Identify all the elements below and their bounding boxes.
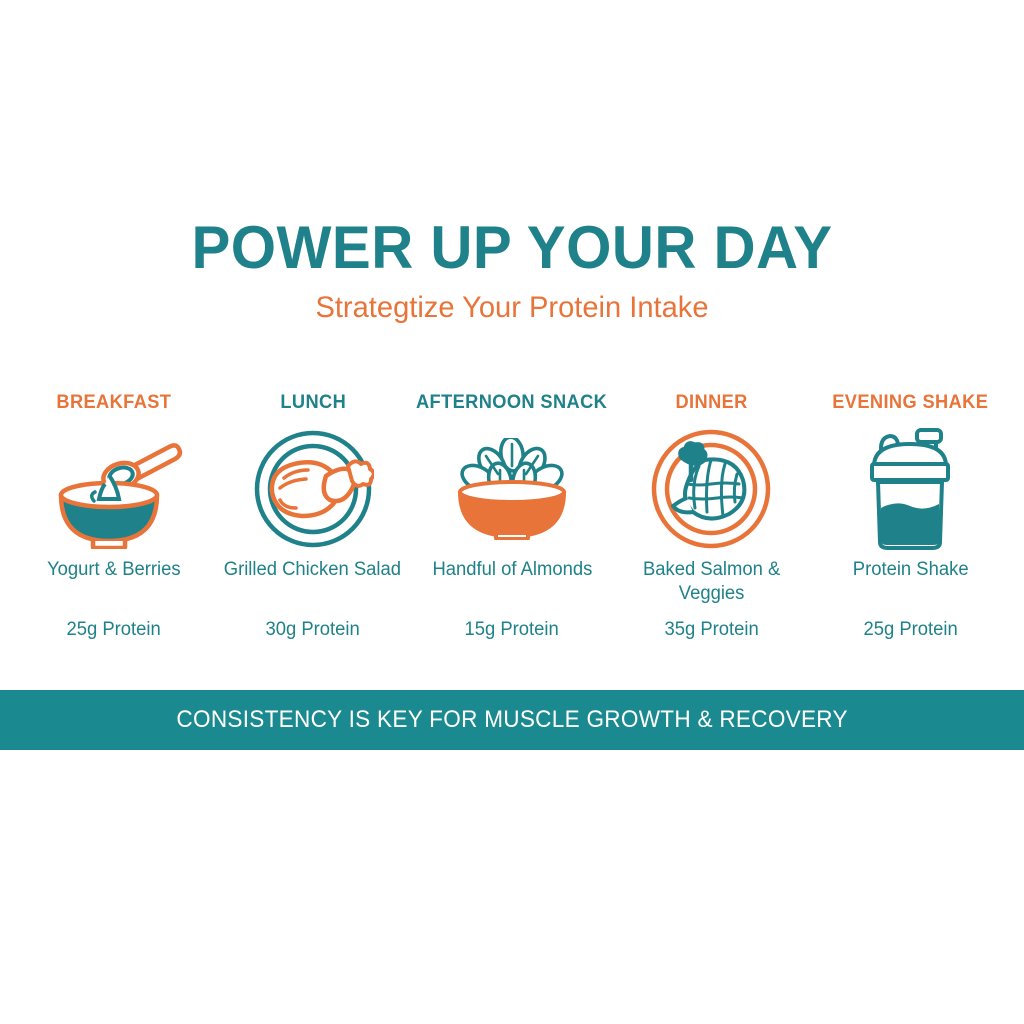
- meal-heading: LUNCH: [280, 390, 346, 416]
- meal-column-afternoon-snack: AFTERNOON SNACK: [412, 390, 611, 642]
- bottom-banner: CONSISTENCY IS KEY FOR MUSCLE GROWTH & R…: [0, 690, 1024, 750]
- meal-protein: 15g Protein: [465, 619, 559, 642]
- meal-heading: DINNER: [675, 390, 747, 416]
- meal-protein: 35g Protein: [664, 619, 758, 642]
- page-subtitle: Strategtize Your Protein Intake: [15, 291, 1008, 326]
- meal-column-breakfast: BREAKFAST: [14, 390, 213, 642]
- meal-column-lunch: LUNCH Grilled Chicken Salad: [213, 390, 412, 642]
- meal-name: Grilled Chicken Salad: [224, 558, 401, 606]
- infographic-canvas: POWER UP YOUR DAY Strategtize Your Prote…: [0, 0, 1024, 1024]
- yogurt-bowl-with-spoon-icon: [34, 426, 194, 552]
- meal-name: Protein Shake: [853, 558, 969, 606]
- meal-protein: 30g Protein: [266, 619, 360, 642]
- page-title: POWER UP YOUR DAY: [15, 218, 1008, 278]
- banner-text: CONSISTENCY IS KEY FOR MUSCLE GROWTH & R…: [176, 706, 847, 734]
- roast-chicken-plate-icon: [233, 426, 393, 552]
- meal-name: Handful of Almonds: [432, 558, 592, 606]
- bowl-of-almonds-icon: [432, 426, 592, 552]
- meal-heading: BREAKFAST: [56, 390, 171, 416]
- salmon-broccoli-plate-icon: [631, 426, 791, 552]
- meal-protein: 25g Protein: [863, 619, 957, 642]
- protein-shaker-bottle-icon: [830, 426, 990, 552]
- meal-protein: 25g Protein: [66, 619, 160, 642]
- header: POWER UP YOUR DAY Strategtize Your Prote…: [0, 218, 1024, 326]
- meal-heading: EVENING SHAKE: [832, 390, 988, 416]
- meal-name: Yogurt & Berries: [47, 558, 181, 606]
- meal-list: BREAKFAST: [0, 390, 1024, 642]
- meal-column-evening-shake: EVENING SHAKE Prote: [811, 390, 1010, 642]
- meal-column-dinner: DINNER: [612, 390, 811, 642]
- meal-name: Baked Salmon & Veggies: [615, 558, 808, 606]
- meal-heading: AFTERNOON SNACK: [416, 390, 607, 416]
